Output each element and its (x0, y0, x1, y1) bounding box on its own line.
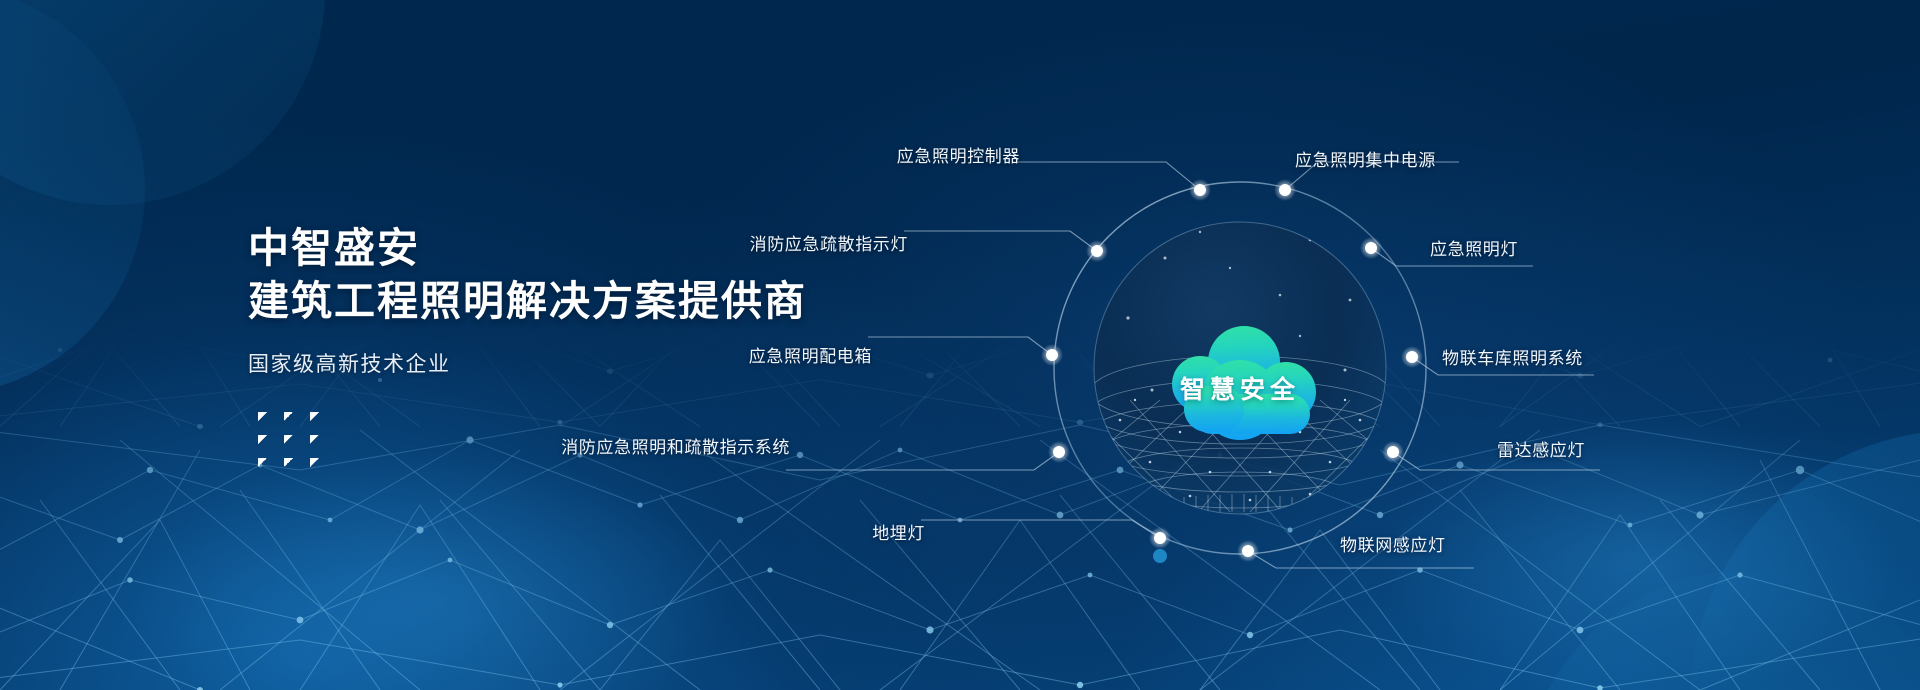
hub-label-node-5[interactable]: 应急照明配电箱 (0, 346, 872, 368)
brand-line-2: 建筑工程照明解决方案提供商 (248, 275, 807, 328)
hub-label-node-1[interactable]: 应急照明控制器 (0, 146, 1020, 168)
hub-label-node-3[interactable]: 消防应急疏散指示灯 (0, 234, 908, 256)
hub-label-node-4[interactable]: 应急照明灯 (1430, 239, 1518, 261)
hub-label-node-6[interactable]: 物联车库照明系统 (1442, 348, 1583, 370)
hub-label-node-8[interactable]: 雷达感应灯 (1497, 440, 1585, 462)
hub-label-node-10[interactable]: 物联网感应灯 (1340, 535, 1446, 557)
hub-label-node-9[interactable]: 地埋灯 (0, 523, 925, 545)
hub-label-node-2[interactable]: 应急照明集中电源 (1295, 150, 1436, 172)
cloud-badge-label: 智慧安全 (1140, 370, 1340, 406)
hero-banner: 智慧安全 应急照明控制器 应急照明集中电源 消防应急疏散指示灯 应急照明灯 应急… (0, 0, 1920, 690)
hub-label-node-7[interactable]: 消防应急照明和疏散指示系统 (0, 437, 790, 459)
